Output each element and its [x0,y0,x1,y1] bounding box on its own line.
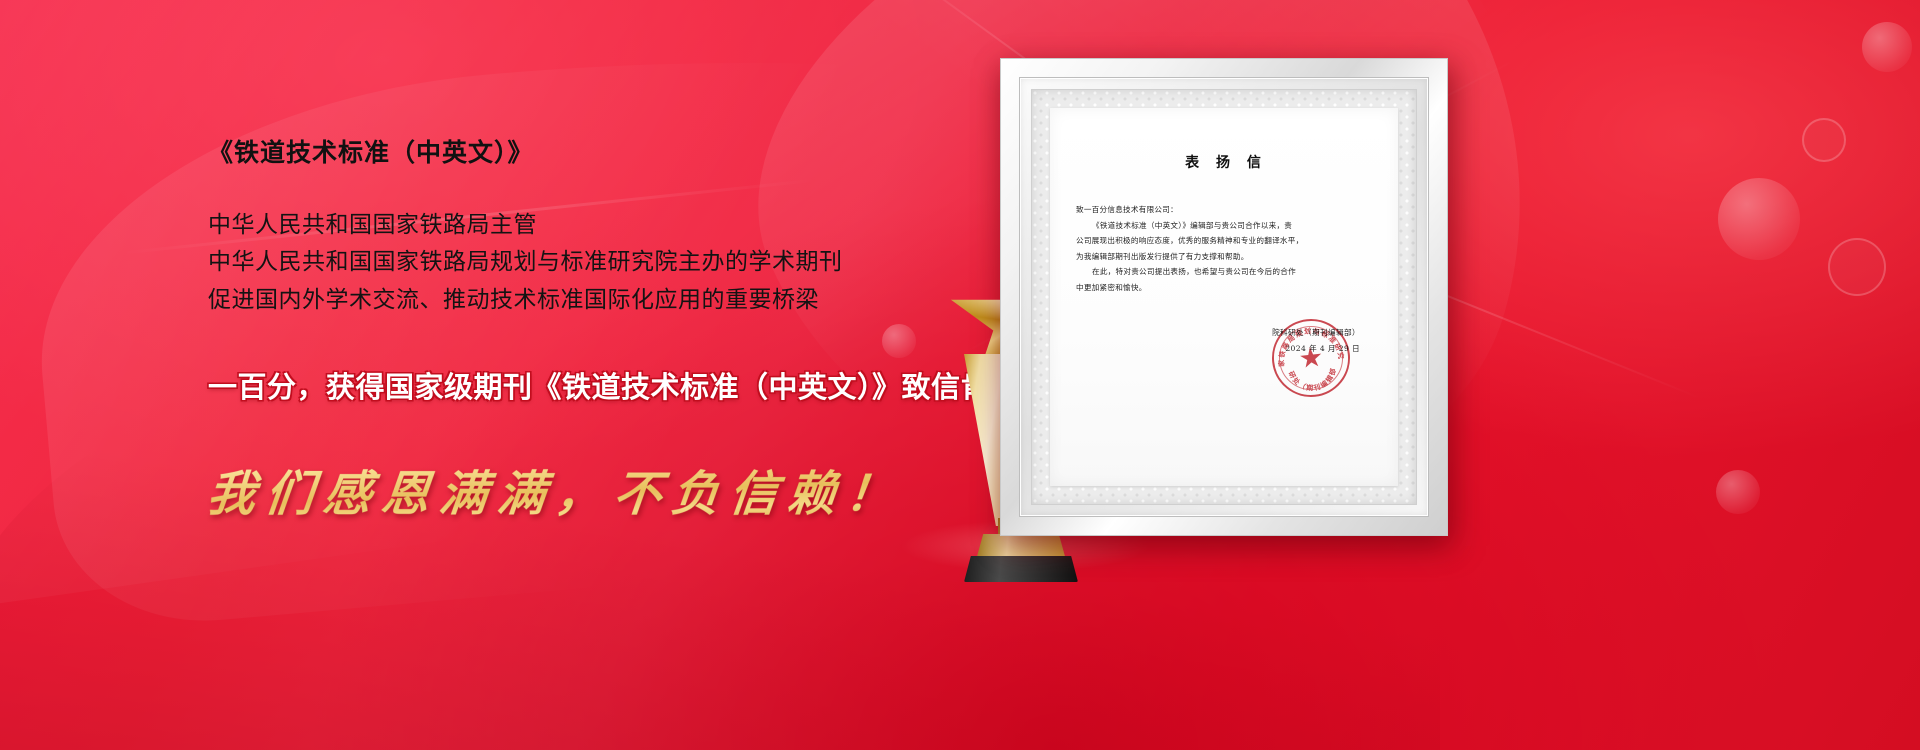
trophy-base-bottom [964,556,1078,582]
journal-description-line-2: 中华人民共和国国家铁路局规划与标准研究院主办的学术期刊 [208,243,1038,280]
picture-frame-outer: 表 扬 信 致一百分信息技术有限公司： 《铁道技术标准（中英文）》编辑部与贵公司… [1000,58,1448,536]
bokeh-circle-2 [1802,118,1846,162]
commendation-letter: 表 扬 信 致一百分信息技术有限公司： 《铁道技术标准（中英文）》编辑部与贵公司… [1076,152,1376,357]
banner-copy-block: 《铁道技术标准（中英文）》 中华人民共和国国家铁路局主管 中华人民共和国国家铁路… [208,138,1038,524]
letter-salutation: 致一百分信息技术有限公司： [1076,202,1376,218]
official-red-seal: 国家铁路局规划与标准研究院 科研处（期刊编辑部） [1268,316,1354,402]
letter-body-line-1: 《铁道技术标准（中英文）》编辑部与贵公司合作以来，贵 [1076,218,1376,234]
letter-body-line-2: 公司展现出积极的响应态度，优秀的服务精神和专业的翻译水平， [1076,233,1376,249]
journal-description-line-1: 中华人民共和国国家铁路局主管 [208,206,1038,243]
bokeh-circle-3 [1718,178,1800,260]
bokeh-circle-5 [1716,470,1760,514]
journal-title: 《铁道技术标准（中英文）》 [208,138,1038,168]
letter-title: 表 扬 信 [1076,152,1376,172]
award-headline: 一百分，获得国家级期刊《铁道技术标准（中英文）》致信肯定! [208,364,1038,406]
seal-arc-text: 国家铁路局规划与标准研究院 科研处（期刊编辑部） [1270,318,1351,399]
bokeh-circle-4 [1828,238,1886,296]
gratitude-calligraphy: 我们感恩满满，不负信赖！ [204,454,1041,524]
frame-mat-board: 表 扬 信 致一百分信息技术有限公司： 《铁道技术标准（中英文）》编辑部与贵公司… [1031,89,1417,505]
letter-signature-block: 国家铁路局规划与标准研究院 科研处（期刊编辑部） 院科研处（期刊编辑部） 202… [1076,325,1376,356]
letter-body-line-5: 中更加紧密和愉快。 [1076,280,1376,296]
journal-description-list: 中华人民共和国国家铁路局主管 中华人民共和国国家铁路局规划与标准研究院主办的学术… [208,206,1038,318]
letter-body-line-4: 在此，特对贵公司提出表扬，也希望与贵公司在今后的合作 [1076,264,1376,280]
award-banner: 《铁道技术标准（中英文）》 中华人民共和国国家铁路局主管 中华人民共和国国家铁路… [0,0,1920,750]
svg-text:国家铁路局规划与标准研究院: 国家铁路局规划与标准研究院 [1270,318,1346,369]
bokeh-circle-1 [1862,22,1912,72]
journal-description-line-3: 促进国内外学术交流、推动技术标准国际化应用的重要桥梁 [208,281,1038,318]
certificate-paper: 表 扬 信 致一百分信息技术有限公司： 《铁道技术标准（中英文）》编辑部与贵公司… [1050,108,1398,486]
framed-certificate: 表 扬 信 致一百分信息技术有限公司： 《铁道技术标准（中英文）》编辑部与贵公司… [1000,58,1448,536]
seal-arc-label: 国家铁路局规划与标准研究院 [1270,318,1346,369]
letter-body-line-3: 为我编辑部期刊出版发行提供了有力支撑和帮助。 [1076,249,1376,265]
